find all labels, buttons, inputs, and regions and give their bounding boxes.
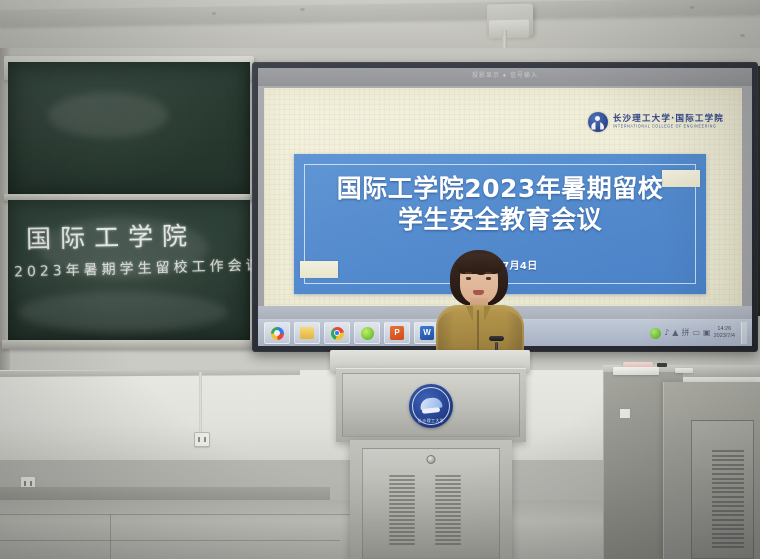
ceiling-fixture-speck bbox=[690, 6, 694, 9]
podium-vent-left bbox=[389, 475, 415, 545]
university-emblem-icon bbox=[588, 112, 608, 132]
slide-title-line-2: 学生安全教育会议 bbox=[294, 205, 706, 236]
taskbar-app-list: P W bbox=[258, 322, 440, 344]
system-tray[interactable]: ♪ ▲ 拼 ▭ ▣ 14:26 2023/7/4 bbox=[650, 322, 752, 344]
powerpoint-glyph: P bbox=[390, 326, 404, 340]
logo-chinese-name: 长沙理工大学·国际工学院 bbox=[613, 115, 724, 124]
eye-left bbox=[466, 277, 471, 280]
slide-title: 国际工学院2023年暑期留校 学生安全教育会议 bbox=[294, 174, 706, 235]
folder-icon[interactable] bbox=[294, 322, 320, 344]
show-desktop-button[interactable] bbox=[741, 322, 747, 344]
slide-logo: 长沙理工大学·国际工学院 INTERNATIONAL COLLEGE OF EN… bbox=[588, 112, 724, 132]
logo-english-name: INTERNATIONAL COLLEGE OF ENGINEERING bbox=[613, 125, 724, 129]
ceiling-fixture-speck bbox=[740, 34, 745, 37]
collar-right bbox=[484, 306, 491, 322]
clock-time: 14:26 bbox=[714, 326, 735, 333]
podium-front-panel: 长沙理工大学 bbox=[336, 368, 526, 442]
equipment-cabinet-right bbox=[663, 382, 760, 559]
notification-icon[interactable]: ▣ bbox=[703, 329, 711, 337]
item-small-white bbox=[675, 368, 693, 373]
ceiling-fixture-speck bbox=[300, 8, 305, 11]
wall-outlet[interactable] bbox=[194, 432, 210, 447]
clock-date: 2023/7/4 bbox=[714, 333, 735, 340]
projector-housing bbox=[489, 20, 529, 39]
chrome-icon[interactable] bbox=[324, 322, 350, 344]
podium-base-cabinet bbox=[350, 440, 512, 559]
floor-tile-line bbox=[0, 514, 360, 515]
chalk-dust bbox=[48, 92, 168, 138]
emblem-label: 长沙理工大学 bbox=[409, 418, 453, 424]
item-paper-sheet bbox=[613, 367, 659, 375]
eyebrow-left bbox=[465, 272, 472, 274]
eye-right bbox=[486, 277, 491, 280]
powerpoint-icon[interactable]: P bbox=[384, 322, 410, 344]
item-small-dark bbox=[657, 363, 667, 367]
podium-door[interactable] bbox=[362, 448, 500, 559]
screen-topbar-label: 投影显示 ● 信号输入 bbox=[472, 70, 538, 79]
cabinet-vent bbox=[712, 450, 744, 548]
collar-left bbox=[466, 306, 473, 322]
microphone-head-icon bbox=[489, 336, 504, 341]
blackboard-upper-panel bbox=[8, 62, 250, 196]
classroom-photo-scene: 国际工学院 2023年暑期学生留校工作会议 投影显示 ● 信号输入 长沙理工大学… bbox=[0, 0, 760, 559]
eyebrow-right bbox=[485, 272, 492, 274]
wall-conduit bbox=[199, 372, 202, 434]
podium-lock-icon[interactable] bbox=[427, 455, 436, 464]
wechat-icon[interactable] bbox=[354, 322, 380, 344]
volume-icon[interactable]: ♪ bbox=[664, 329, 669, 337]
battery-icon[interactable]: ▭ bbox=[692, 329, 700, 337]
screen-topbar: 投影显示 ● 信号输入 bbox=[258, 68, 752, 86]
cabinet-top-items bbox=[613, 360, 693, 376]
taskbar-clock[interactable]: 14:26 2023/7/4 bbox=[714, 326, 738, 340]
hair-fringe bbox=[456, 254, 502, 274]
logo-text-block: 长沙理工大学·国际工学院 INTERNATIONAL COLLEGE OF EN… bbox=[613, 115, 724, 129]
floor-tile-line bbox=[0, 540, 340, 541]
chalk-dust bbox=[18, 292, 228, 332]
podium-vent-right bbox=[435, 475, 461, 545]
wechat-tray-icon[interactable] bbox=[650, 328, 661, 339]
csust-emblem-icon: 长沙理工大学 bbox=[409, 384, 453, 428]
ceiling-beam bbox=[0, 0, 760, 26]
chalk-tray bbox=[2, 340, 256, 349]
input-method-icon[interactable]: 拼 bbox=[681, 329, 689, 337]
mouth bbox=[473, 290, 484, 295]
slide-title-line-1: 国际工学院2023年暑期留校 bbox=[337, 174, 664, 203]
speaker-person bbox=[432, 250, 528, 360]
emblem-wave-mark bbox=[419, 396, 443, 416]
cabinet-label-plate bbox=[619, 408, 631, 419]
projector-arm bbox=[502, 30, 507, 50]
network-icon[interactable]: ▲ bbox=[672, 329, 678, 337]
browser-icon[interactable] bbox=[264, 322, 290, 344]
ceiling-fixture-speck bbox=[212, 12, 216, 15]
blackboard-title-text: 国际工学院 bbox=[26, 216, 197, 255]
floor-tile-line bbox=[110, 514, 111, 559]
